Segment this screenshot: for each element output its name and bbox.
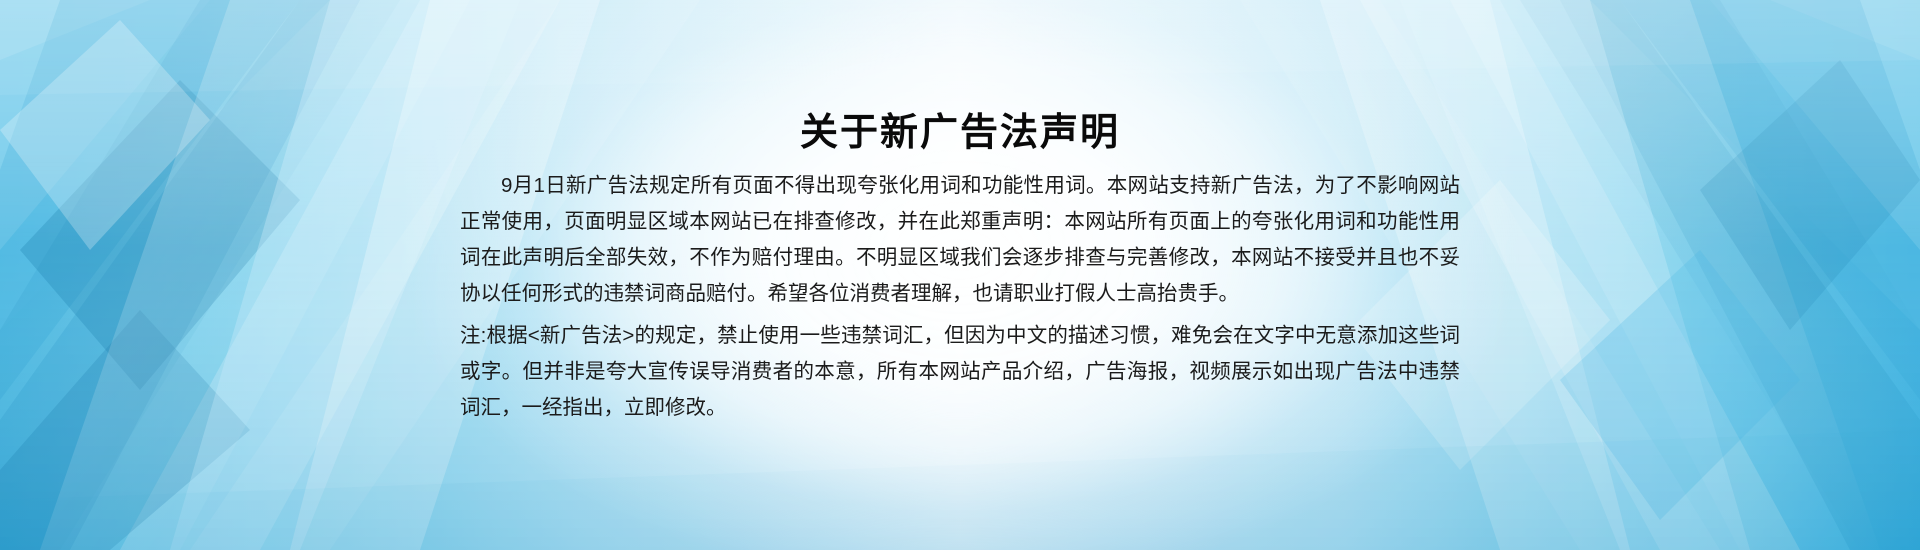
note-paragraph: 注:根据<新广告法>的规定，禁止使用一些违禁词汇，但因为中文的描述习惯，难免会在… xyxy=(460,318,1460,426)
page-title: 关于新广告法声明 xyxy=(460,111,1460,157)
statement-paragraph: 9月1日新广告法规定所有页面不得出现夸张化用词和功能性用词。本网站支持新广告法，… xyxy=(460,168,1460,312)
advertising-law-statement-banner: 关于新广告法声明 9月1日新广告法规定所有页面不得出现夸张化用词和功能性用词。本… xyxy=(0,0,1920,550)
statement-content: 关于新广告法声明 9月1日新广告法规定所有页面不得出现夸张化用词和功能性用词。本… xyxy=(460,0,1460,550)
